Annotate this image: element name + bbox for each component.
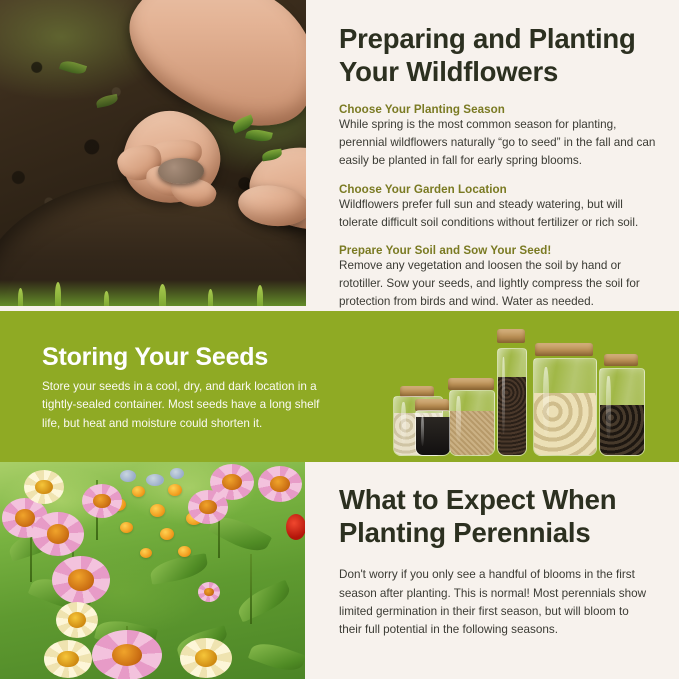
text-block-garden-location: Choose Your Garden Location Wildflowers … <box>339 183 659 232</box>
coneflower <box>188 490 228 524</box>
wildflower-garden-image <box>0 462 305 679</box>
glass-highlight <box>401 402 406 444</box>
jar-tall-dark-seeds <box>497 341 525 456</box>
body-prepare-soil: Remove any vegetation and loosen the soi… <box>339 257 659 310</box>
jar-glass <box>533 358 597 456</box>
page-title: Preparing and Planting Your Wildflowers <box>339 0 659 88</box>
daisy-flower <box>180 638 232 678</box>
text-block-prepare-soil: Prepare Your Soil and Sow Your Seed! Rem… <box>339 244 659 310</box>
storing-seeds-title: Storing Your Seeds <box>42 343 268 372</box>
jar-glass <box>415 410 451 456</box>
grass-strip <box>0 280 306 306</box>
daisy-flower <box>56 602 98 638</box>
section-preparing-and-planting: Preparing and Planting Your Wildflowers … <box>0 0 679 311</box>
daisy-flower <box>24 470 64 504</box>
cork-lid <box>497 329 525 343</box>
jar-glass <box>449 390 495 456</box>
cork-lid <box>535 343 593 356</box>
cork-lid <box>448 378 494 390</box>
coneflower <box>198 582 220 602</box>
coneflower <box>52 556 110 604</box>
glass-highlight <box>502 357 505 433</box>
what-to-expect-body: Don't worry if you only see a handful of… <box>339 549 651 639</box>
cork-lid <box>604 354 638 366</box>
coneflower <box>32 512 84 556</box>
jar-sunflower-seeds <box>599 364 643 456</box>
jar-glass <box>599 368 645 456</box>
glass-highlight <box>543 367 549 436</box>
text-block-planting-season: Choose Your Planting Season While spring… <box>339 103 659 169</box>
jar-glass <box>497 348 527 456</box>
glass-highlight <box>421 415 424 447</box>
glass-highlight <box>606 376 610 438</box>
coneflower <box>258 466 302 502</box>
jar-pumpkin-seeds <box>533 354 595 456</box>
seeds-in-hand <box>158 158 204 184</box>
body-planting-season: While spring is the most common season f… <box>339 116 659 169</box>
jar-tan-grain <box>449 388 493 456</box>
subheading-planting-season: Choose Your Planting Season <box>339 103 659 116</box>
subheading-prepare-soil: Prepare Your Soil and Sow Your Seed! <box>339 244 659 257</box>
daisy-flower <box>44 640 92 678</box>
subheading-garden-location: Choose Your Garden Location <box>339 183 659 196</box>
body-garden-location: Wildflowers prefer full sun and steady w… <box>339 196 659 232</box>
coneflower <box>82 484 122 518</box>
seed-jars-image <box>385 326 670 456</box>
jar-black-seeds <box>415 408 449 456</box>
storing-seeds-body: Store your seeds in a cool, dry, and dar… <box>42 378 327 433</box>
wildflower-planting-infographic: Preparing and Planting Your Wildflowers … <box>0 0 679 679</box>
hands-planting-seeds-image <box>0 0 306 306</box>
preparing-text-column: Preparing and Planting Your Wildflowers … <box>339 0 659 311</box>
what-to-expect-text-column: What to Expect When Planting Perennials … <box>339 462 659 639</box>
what-to-expect-title: What to Expect When Planting Perennials <box>339 462 659 549</box>
glass-highlight <box>456 396 460 442</box>
coneflower <box>92 630 162 679</box>
